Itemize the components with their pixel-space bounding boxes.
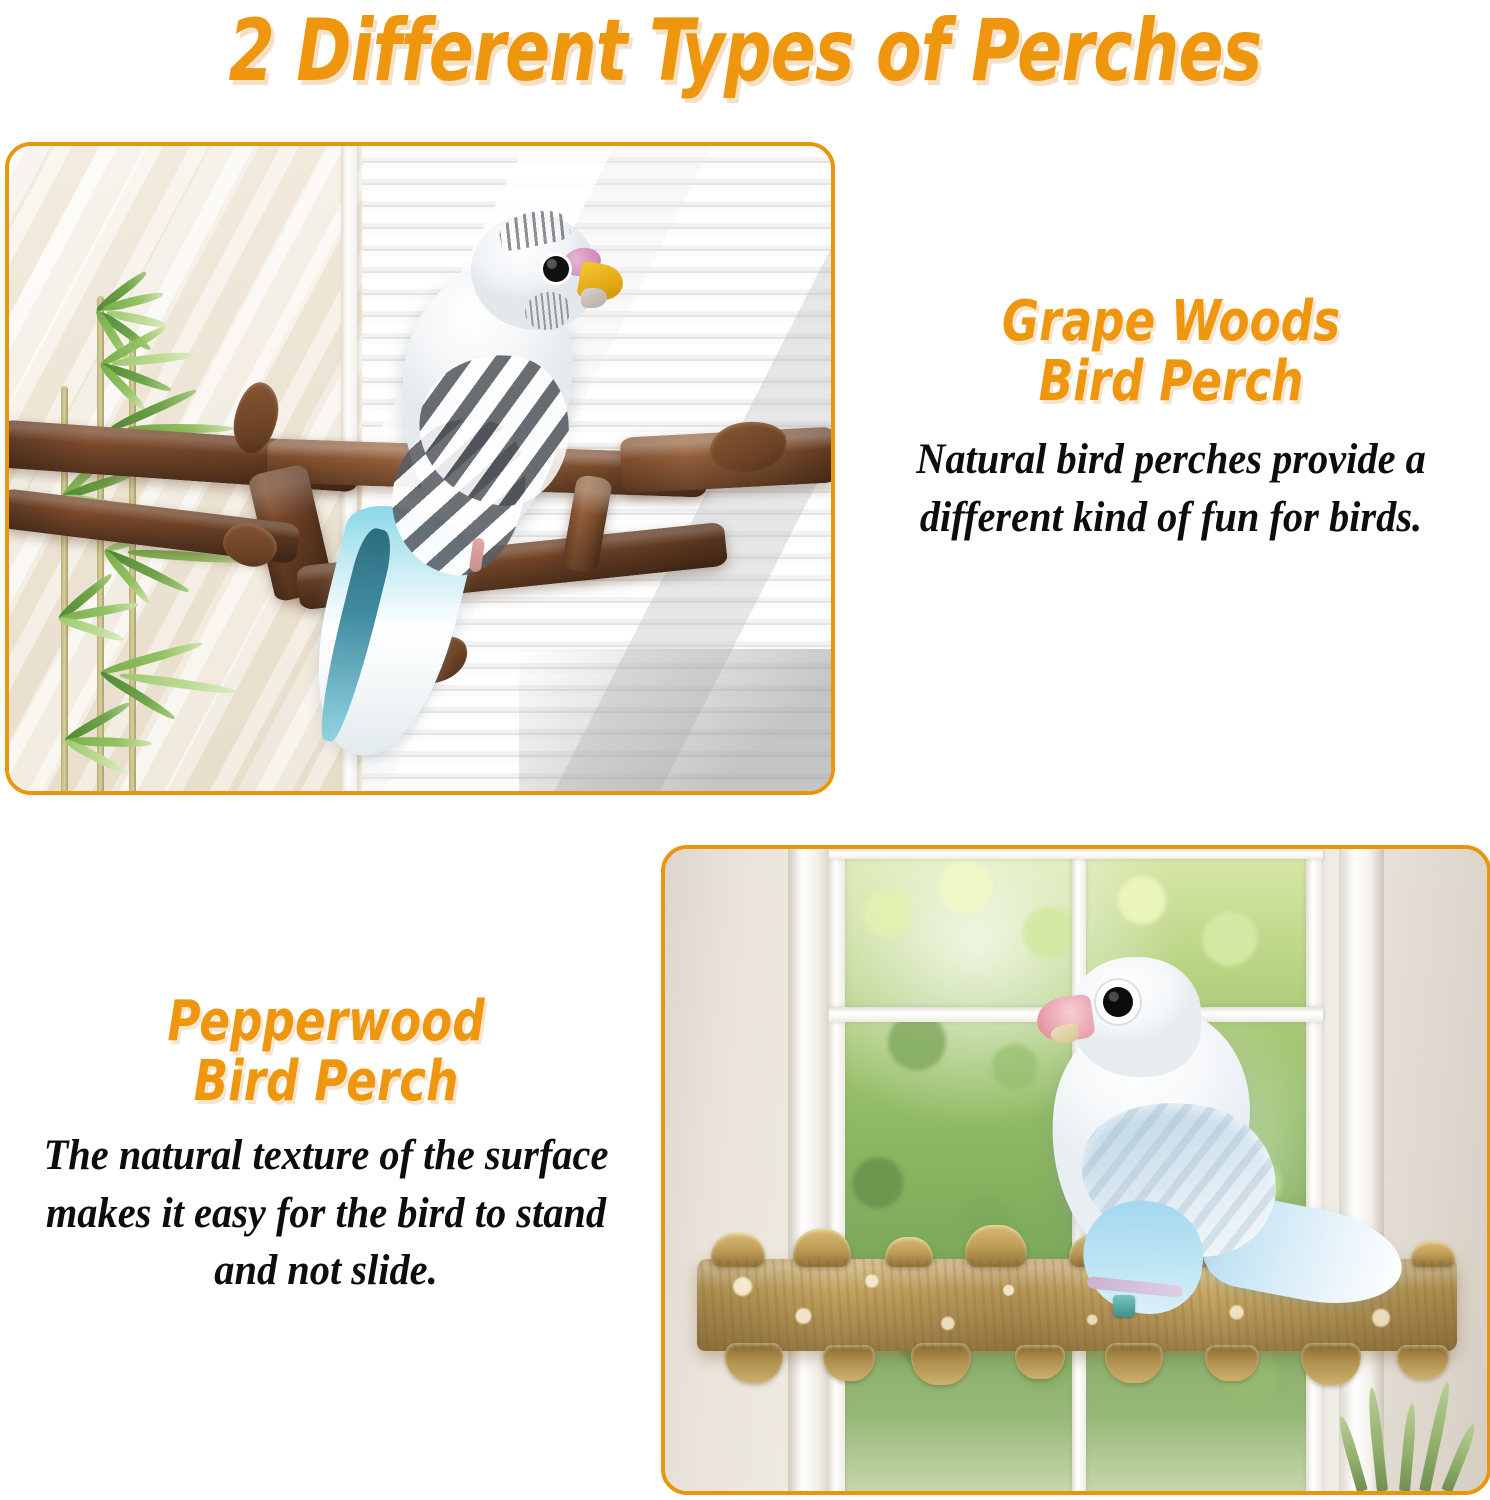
pepperwood-photo-panel [661, 845, 1490, 1495]
bird-lower-beak [581, 288, 607, 308]
lovebird-leg-band [1113, 1295, 1135, 1317]
lovebird-eye [1103, 987, 1133, 1017]
grape-woods-text-block: Grape Woods Bird Perch Natural bird perc… [855, 292, 1487, 546]
infographic-page: 2 Different Types of Perches [0, 0, 1490, 1500]
pepperwood-text-block: Pepperwood Bird Perch The natural textur… [6, 992, 646, 1300]
bird-eye [543, 256, 569, 282]
grape-woods-photo-panel [5, 142, 835, 795]
lovebird-bird [1025, 951, 1425, 1351]
grape-woods-heading: Grape Woods Bird Perch [887, 292, 1456, 413]
window-head-rail [829, 849, 1322, 859]
window-mullion-vertical [829, 849, 845, 1491]
grape-woods-scene [9, 146, 831, 791]
pepperwood-heading-line1: Pepperwood [38, 992, 614, 1052]
pepperwood-heading: Pepperwood Bird Perch [38, 992, 614, 1113]
grape-woods-heading-line1: Grape Woods [887, 292, 1456, 352]
pepperwood-scene [665, 849, 1487, 1491]
grape-woods-heading-line2: Bird Perch [887, 352, 1456, 412]
grape-woods-description: Natural bird perches provide a different… [874, 431, 1468, 546]
window-jamb-left [788, 849, 829, 1491]
foreground-plant [1347, 1371, 1477, 1491]
budgerigar-bird [367, 208, 687, 791]
pepperwood-heading-line2: Bird Perch [38, 1052, 614, 1112]
page-title: 2 Different Types of Perches [104, 6, 1385, 96]
pepperwood-description: The natural texture of the surface makes… [25, 1127, 627, 1300]
wall-left [665, 849, 797, 1491]
